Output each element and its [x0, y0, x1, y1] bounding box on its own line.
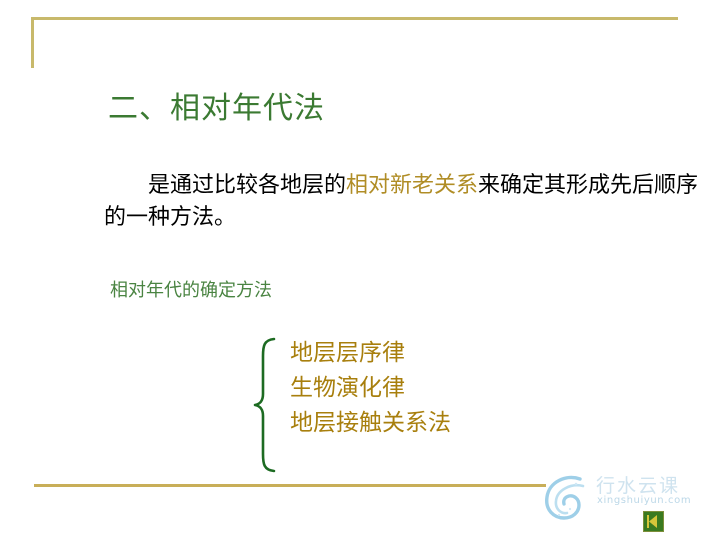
- curly-brace-icon: [252, 336, 278, 474]
- body-paragraph: 是通过比较各地层的相对新老关系来确定其形成先后顺序的一种方法。: [104, 170, 704, 234]
- list-item: 地层层序律: [290, 336, 451, 371]
- method-list: 地层层序律 生物演化律 地层接触关系法: [290, 336, 451, 441]
- watermark: 行水云课 xingshuiyun.com: [540, 468, 712, 522]
- slide-title: 二、相对年代法: [108, 92, 325, 127]
- wave-logo-icon: [540, 470, 592, 522]
- top-horizontal-rule: [31, 17, 678, 20]
- methods-group: 地层层序律 生物演化律 地层接触关系法: [252, 336, 562, 476]
- sub-heading: 相对年代的确定方法: [110, 276, 272, 302]
- watermark-brand: 行水云课: [596, 471, 680, 498]
- paragraph-highlight-text: 相对新老关系: [346, 173, 478, 198]
- bottom-horizontal-rule: [34, 484, 546, 487]
- previous-triangle-icon: [644, 512, 663, 531]
- list-item: 生物演化律: [290, 371, 451, 406]
- paragraph-lead-text: 是通过比较各地层的: [148, 173, 346, 198]
- previous-slide-button[interactable]: [643, 511, 664, 532]
- presentation-slide: 二、相对年代法 是通过比较各地层的相对新老关系来确定其形成先后顺序的一种方法。 …: [0, 0, 720, 540]
- top-left-vertical-rule: [31, 17, 34, 68]
- watermark-url: xingshuiyun.com: [597, 495, 691, 506]
- list-item: 地层接触关系法: [290, 406, 451, 441]
